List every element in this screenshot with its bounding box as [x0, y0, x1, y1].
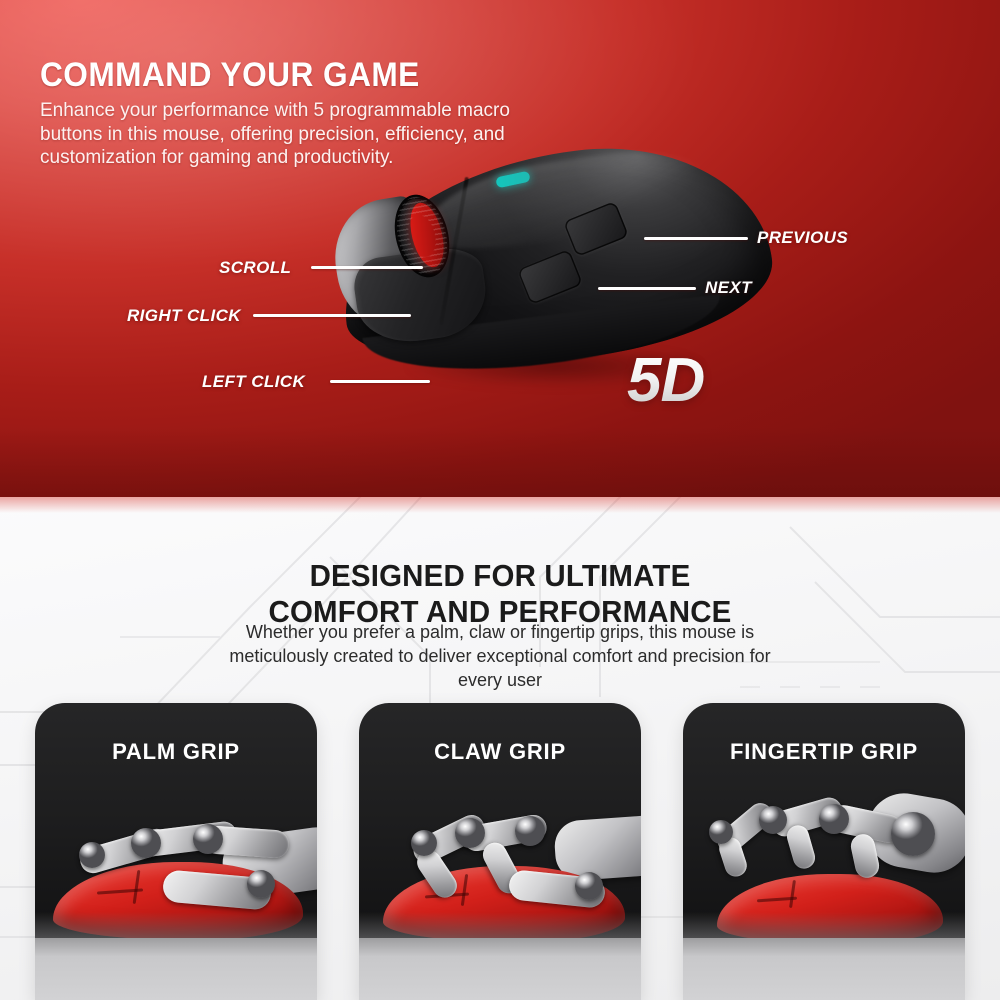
- hero-title: COMMAND YOUR GAME: [40, 55, 420, 95]
- section-top-glow: [0, 497, 1000, 513]
- section-title-line1: DESIGNED FOR ULTIMATE: [310, 558, 691, 593]
- grip-card-list: PALM GRIP: [0, 703, 1000, 1000]
- hero-bottom-shade: [0, 427, 1000, 497]
- grip-section: DESIGNED FOR ULTIMATE COMFORT AND PERFOR…: [0, 497, 1000, 1000]
- robot-knuckle: [515, 816, 545, 846]
- leader-line-left-click: [330, 380, 430, 383]
- robot-knuckle: [79, 842, 105, 868]
- callout-previous: PREVIOUS: [757, 228, 848, 248]
- grip-card-title: FINGERTIP GRIP: [683, 739, 965, 765]
- card-floor: [359, 938, 641, 1000]
- robot-knuckle: [709, 820, 733, 844]
- grip-card-claw[interactable]: CLAW GRIP: [359, 703, 641, 1000]
- grip-card-title: PALM GRIP: [35, 739, 317, 765]
- card-floor: [35, 938, 317, 1000]
- robot-knuckle: [131, 828, 161, 858]
- callout-next: NEXT: [705, 278, 752, 298]
- grip-card-palm[interactable]: PALM GRIP: [35, 703, 317, 1000]
- robot-knuckle: [193, 824, 223, 854]
- section-title: DESIGNED FOR ULTIMATE COMFORT AND PERFOR…: [25, 558, 975, 630]
- leader-line-next: [598, 287, 696, 290]
- hero-section: COMMAND YOUR GAME Enhance your performan…: [0, 0, 1000, 497]
- robot-knuckle: [575, 872, 603, 900]
- callout-scroll: SCROLL: [219, 258, 291, 278]
- robot-finger: [784, 823, 817, 871]
- robot-wrist-joint: [891, 812, 935, 856]
- grip-card-title: CLAW GRIP: [359, 739, 641, 765]
- robot-knuckle: [759, 806, 787, 834]
- callout-left-click: LEFT CLICK: [202, 372, 305, 392]
- badge-5d: 5D: [627, 350, 704, 412]
- mouse-illustration: [300, 140, 800, 410]
- leader-line-scroll: [311, 266, 423, 269]
- robot-knuckle: [819, 804, 849, 834]
- card-floor: [683, 938, 965, 1000]
- card-floor-edge: [359, 912, 641, 938]
- section-subtitle: Whether you prefer a palm, claw or finge…: [210, 620, 790, 692]
- card-floor-edge: [35, 912, 317, 938]
- robot-knuckle: [247, 870, 275, 898]
- robot-knuckle: [411, 830, 437, 856]
- product-infographic: COMMAND YOUR GAME Enhance your performan…: [0, 0, 1000, 1000]
- grip-card-fingertip[interactable]: FINGERTIP GRIP: [683, 703, 965, 1000]
- robot-knuckle: [455, 818, 485, 848]
- leader-line-previous: [644, 237, 748, 240]
- leader-line-right-click: [253, 314, 411, 317]
- callout-right-click: RIGHT CLICK: [127, 306, 241, 326]
- card-floor-edge: [683, 912, 965, 938]
